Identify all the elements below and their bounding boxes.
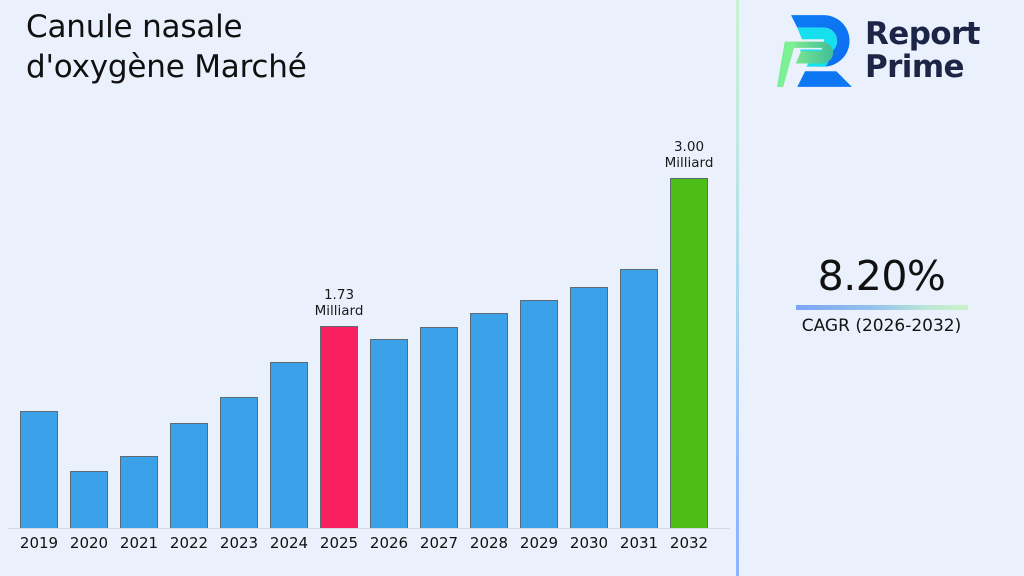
x-tick-2030: 2030 — [564, 534, 614, 552]
brand-name-line1: Report — [865, 18, 980, 51]
x-tick-2028: 2028 — [464, 534, 514, 552]
bar-2023 — [220, 397, 258, 528]
x-tick-2023: 2023 — [214, 534, 264, 552]
x-tick-2026: 2026 — [364, 534, 414, 552]
x-tick-2032: 2032 — [664, 534, 714, 552]
bar-2027 — [420, 327, 458, 528]
side-panel: Report Prime 8.20% CAGR (2026-2032) — [739, 0, 1024, 576]
report-prime-logo-icon — [777, 10, 855, 92]
brand-logo: Report Prime — [777, 10, 980, 92]
cagr-value: 8.20% — [739, 255, 1024, 298]
bar-2022 — [170, 423, 208, 528]
bar-2024 — [270, 362, 308, 528]
bar-2026 — [370, 339, 408, 528]
bar-2032 — [670, 178, 708, 528]
brand-name-line2: Prime — [865, 51, 980, 84]
x-tick-2027: 2027 — [414, 534, 464, 552]
bar-value-label-2025: 1.73 Milliard — [294, 288, 384, 320]
chart-panel: Canule nasale d'oxygène Marché 1.73 Mill… — [0, 0, 737, 576]
bar-value-label-2032: 3.00 Milliard — [644, 140, 734, 172]
cagr-block: 8.20% CAGR (2026-2032) — [739, 255, 1024, 336]
x-tick-2024: 2024 — [264, 534, 314, 552]
x-tick-2025: 2025 — [314, 534, 364, 552]
x-tick-2022: 2022 — [164, 534, 214, 552]
x-axis-line — [8, 528, 730, 529]
x-tick-2029: 2029 — [514, 534, 564, 552]
bar-2030 — [570, 287, 608, 528]
bar-2031 — [620, 269, 658, 528]
cagr-divider-rule — [796, 305, 968, 310]
brand-name: Report Prime — [865, 18, 980, 84]
x-tick-2031: 2031 — [614, 534, 664, 552]
bar-chart-plot-area: 1.73 Milliard3.00 Milliard — [0, 0, 737, 529]
bar-2019 — [20, 411, 58, 528]
chart-screenshot: Canule nasale d'oxygène Marché 1.73 Mill… — [0, 0, 1024, 576]
cagr-caption: CAGR (2026-2032) — [739, 316, 1024, 336]
bar-2025 — [320, 326, 358, 528]
bar-2028 — [470, 313, 508, 528]
x-tick-2019: 2019 — [14, 534, 64, 552]
bar-2029 — [520, 300, 558, 528]
bar-2021 — [120, 456, 158, 528]
x-tick-2021: 2021 — [114, 534, 164, 552]
bar-2020 — [70, 471, 108, 528]
x-tick-2020: 2020 — [64, 534, 114, 552]
